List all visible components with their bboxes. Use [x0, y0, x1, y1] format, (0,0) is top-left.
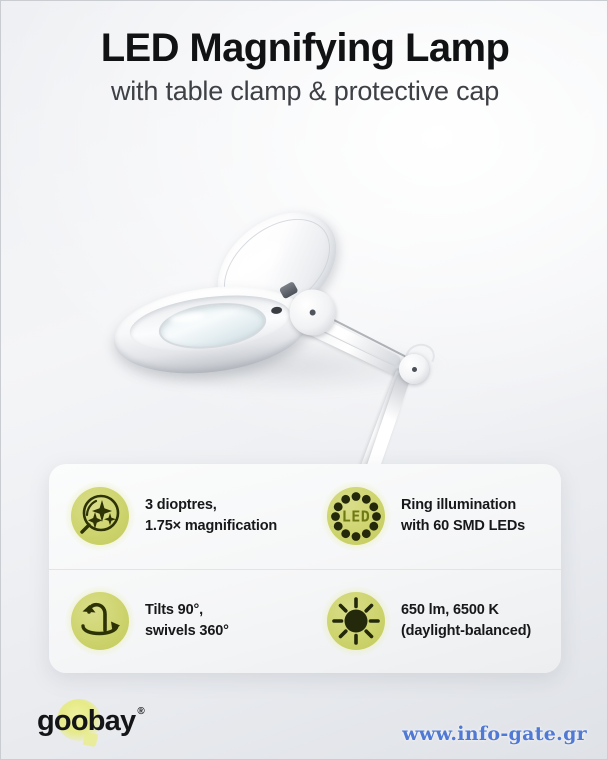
- icon-disc: LED: [327, 487, 385, 545]
- tilt-swivel-arrows-icon: [71, 592, 129, 650]
- feature-line-1: Ring illumination: [401, 497, 516, 513]
- magnifier-sparkle-icon: [71, 487, 129, 545]
- feature-text: 3 dioptres, 1.75× magnification: [145, 495, 277, 537]
- page-title: LED Magnifying Lamp: [1, 27, 608, 70]
- watermark-url: www.info-gate.gr: [402, 723, 587, 745]
- brand-logo: goobay ®: [37, 704, 145, 738]
- feature-led-ring: LED Ring illumination with 60 SMD LEDs: [305, 464, 561, 569]
- page-subtitle: with table clamp & protective cap: [1, 76, 608, 107]
- registered-trademark-symbol: ®: [137, 706, 144, 717]
- feature-line-2: (daylight-balanced): [401, 621, 531, 642]
- feature-line-2: with 60 SMD LEDs: [401, 516, 525, 537]
- icon-disc: [71, 487, 129, 545]
- brand-name: goobay: [37, 707, 135, 736]
- feature-card: 3 dioptres, 1.75× magnification: [49, 464, 561, 673]
- feature-brightness: 650 lm, 6500 K (daylight-balanced): [305, 569, 561, 674]
- feature-line-2: swivels 360°: [145, 621, 229, 642]
- arm-elbow-joint: [399, 354, 429, 384]
- led-ring-icon: LED: [327, 487, 385, 545]
- product-image: [1, 106, 608, 496]
- feature-magnification: 3 dioptres, 1.75× magnification: [49, 464, 305, 569]
- feature-tilt-swivel: Tilts 90°, swivels 360°: [49, 569, 305, 674]
- sun-brightness-icon: [327, 592, 385, 650]
- feature-line-1: 3 dioptres,: [145, 497, 217, 513]
- headline-block: LED Magnifying Lamp with table clamp & p…: [1, 27, 608, 107]
- feature-text: 650 lm, 6500 K (daylight-balanced): [401, 600, 531, 642]
- feature-line-1: Tilts 90°,: [145, 602, 203, 618]
- feature-text: Ring illumination with 60 SMD LEDs: [401, 495, 525, 537]
- feature-line-1: 650 lm, 6500 K: [401, 602, 499, 618]
- feature-text: Tilts 90°, swivels 360°: [145, 600, 229, 642]
- feature-line-2: 1.75× magnification: [145, 516, 277, 537]
- icon-disc: [71, 592, 129, 650]
- product-marketing-poster: LED Magnifying Lamp with table clamp & p…: [0, 0, 608, 760]
- icon-disc: [327, 592, 385, 650]
- led-icon-label: LED: [342, 508, 371, 526]
